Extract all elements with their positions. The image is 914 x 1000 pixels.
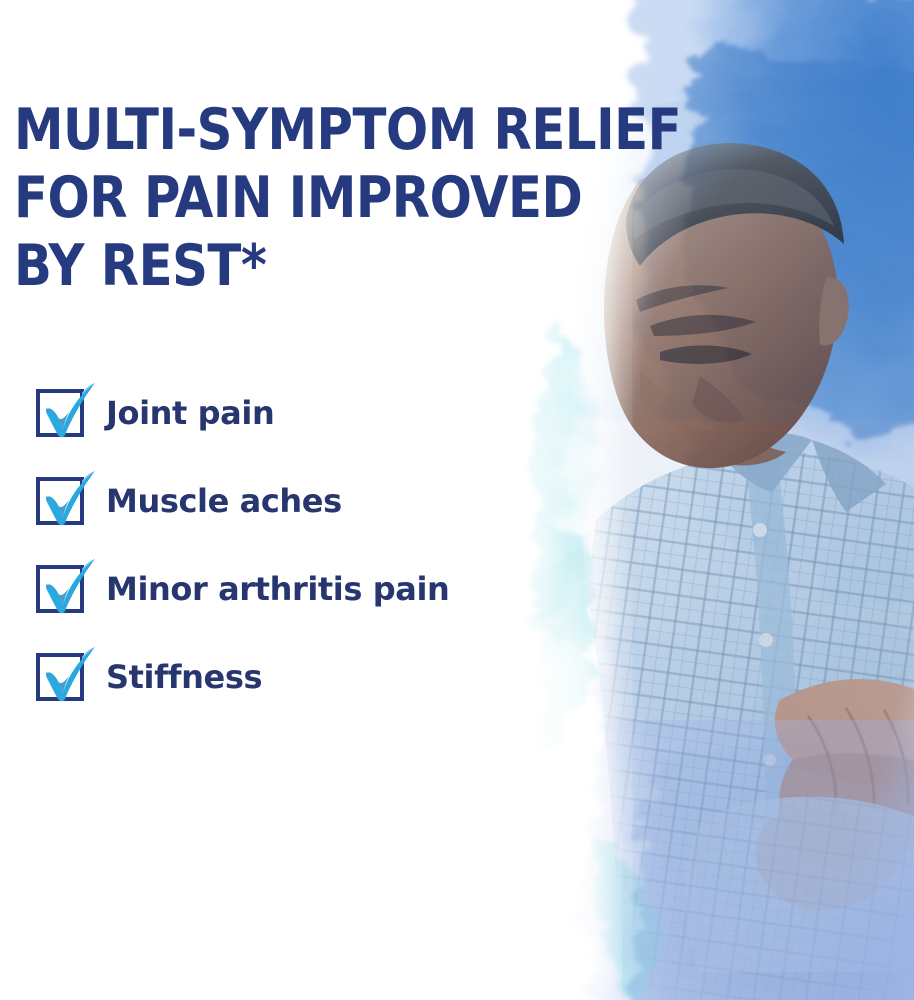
check-mark-icon bbox=[38, 641, 100, 703]
list-item-label: Minor arthritis pain bbox=[106, 573, 449, 605]
list-item: Stiffness bbox=[36, 652, 536, 702]
checked-checkbox-icon bbox=[36, 389, 84, 437]
check-mark-icon bbox=[38, 377, 100, 439]
list-item: Joint pain bbox=[36, 388, 536, 438]
list-item-label: Muscle aches bbox=[106, 485, 342, 517]
headline-line-1: MULTI-SYMPTOM RELIEF bbox=[14, 96, 615, 164]
checked-checkbox-icon bbox=[36, 565, 84, 613]
checked-checkbox-icon bbox=[36, 653, 84, 701]
list-item: Minor arthritis pain bbox=[36, 564, 536, 614]
symptom-checklist: Joint pain Muscle aches bbox=[36, 388, 536, 702]
check-mark-icon bbox=[38, 465, 100, 527]
page-title: MULTI-SYMPTOM RELIEF FOR PAIN IMPROVED B… bbox=[14, 96, 615, 300]
list-item-label: Stiffness bbox=[106, 661, 262, 693]
checked-checkbox-icon bbox=[36, 477, 84, 525]
list-item: Muscle aches bbox=[36, 476, 536, 526]
product-benefits-banner: MULTI-SYMPTOM RELIEF FOR PAIN IMPROVED B… bbox=[0, 0, 914, 1000]
headline-line-2: FOR PAIN IMPROVED bbox=[14, 164, 615, 232]
headline-line-3: BY REST* bbox=[14, 232, 615, 300]
check-mark-icon bbox=[38, 553, 100, 615]
list-item-label: Joint pain bbox=[106, 397, 274, 429]
